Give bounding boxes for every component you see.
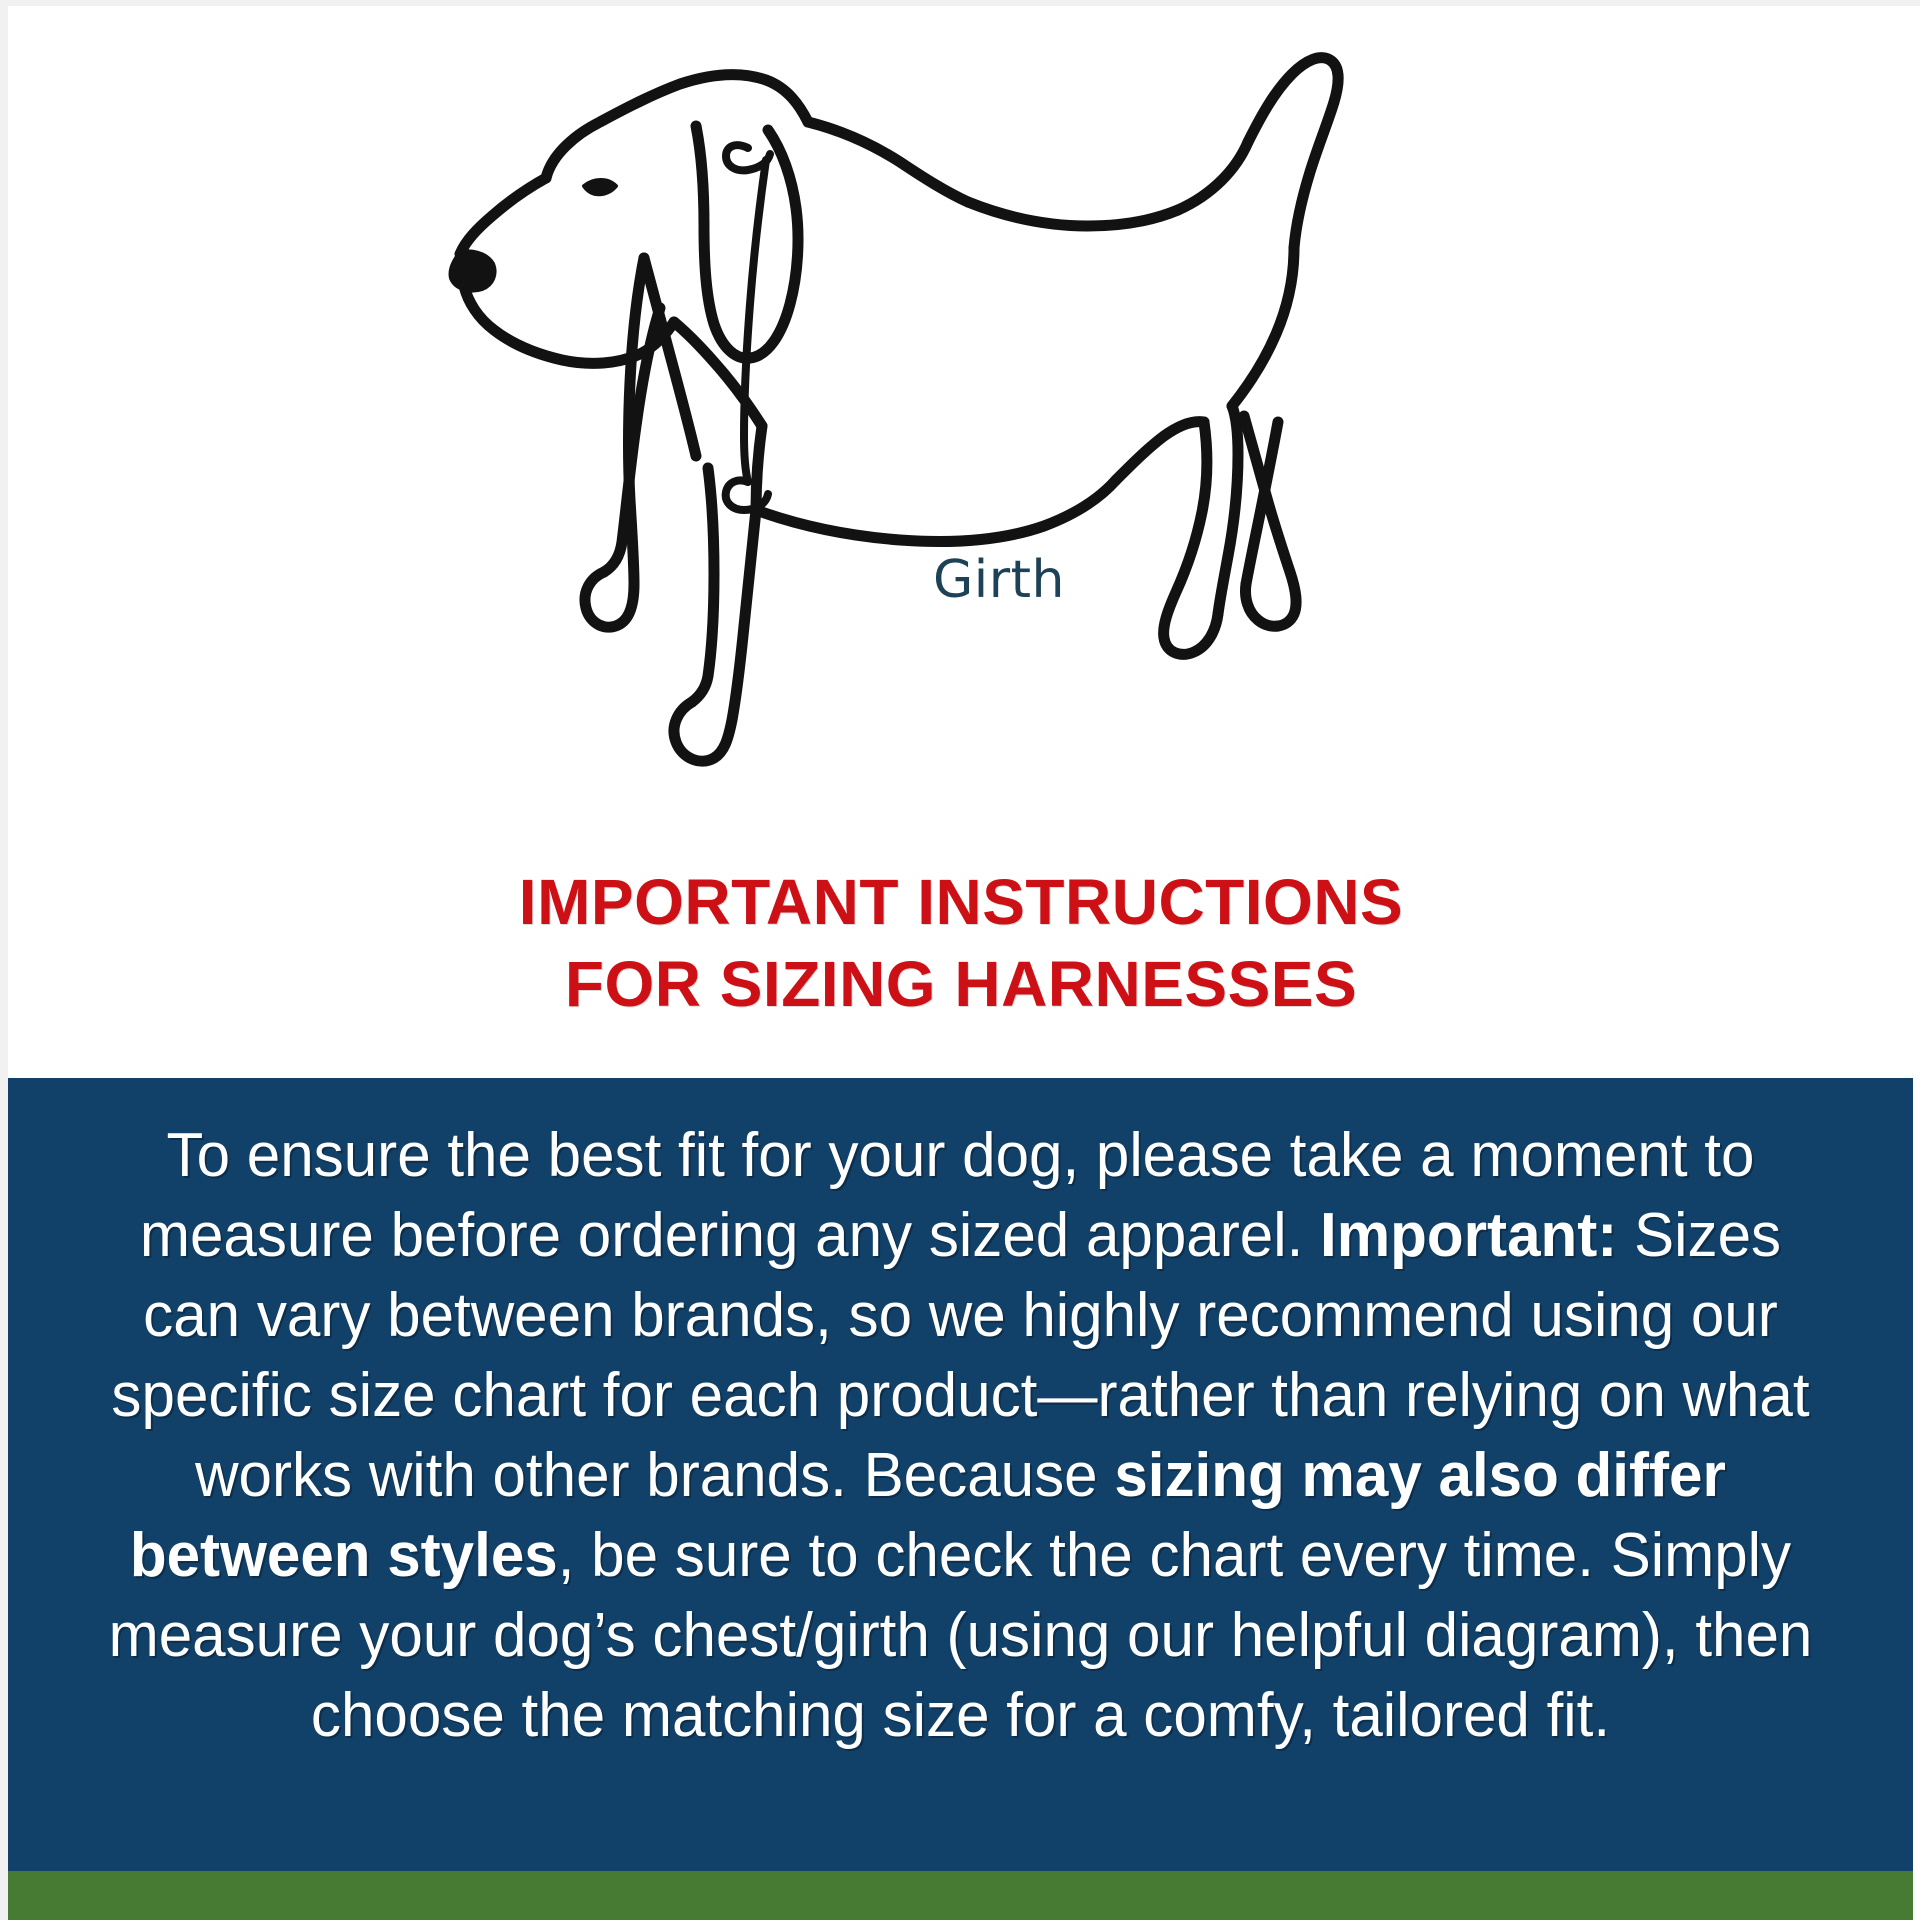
dog-eye — [584, 180, 616, 194]
page-title-line-1: IMPORTANT INSTRUCTIONS — [8, 861, 1914, 943]
dog-nose-bridge — [460, 178, 546, 254]
sizing-instructions-infographic: Girth IMPORTANT INSTRUCTIONS FOR SIZING … — [0, 0, 1920, 1920]
dog-illustration-area: Girth — [8, 6, 1914, 856]
dog-rear-leg-near — [1164, 422, 1218, 654]
dog-back — [968, 202, 1178, 226]
page-title: IMPORTANT INSTRUCTIONS FOR SIZING HARNES… — [8, 861, 1914, 1025]
footer-accent-bar — [8, 1871, 1913, 1920]
dog-nose — [451, 252, 493, 289]
instructions-body-text: To ensure the best fit for your dog, ple… — [83, 1116, 1838, 1756]
dog-line-drawing — [448, 26, 1458, 846]
dog-tail — [1248, 58, 1338, 248]
dog-rump — [1178, 142, 1248, 210]
instructions-emphasis: Important: — [1320, 1201, 1617, 1270]
dog-belly — [756, 480, 1116, 541]
instructions-panel: To ensure the best fit for your dog, ple… — [8, 1078, 1913, 1871]
girth-label: Girth — [933, 554, 1065, 606]
dog-chest-front — [756, 426, 762, 510]
dog-rear-leg-upper — [1116, 422, 1204, 480]
dog-rear-thigh-back — [1232, 248, 1294, 406]
dog-neck-top — [808, 122, 968, 202]
dog-rear-leg-near-back — [1218, 406, 1238, 614]
page-title-line-2: FOR SIZING HARNESSES — [8, 943, 1914, 1025]
dog-front-leg-near-back — [692, 468, 714, 702]
